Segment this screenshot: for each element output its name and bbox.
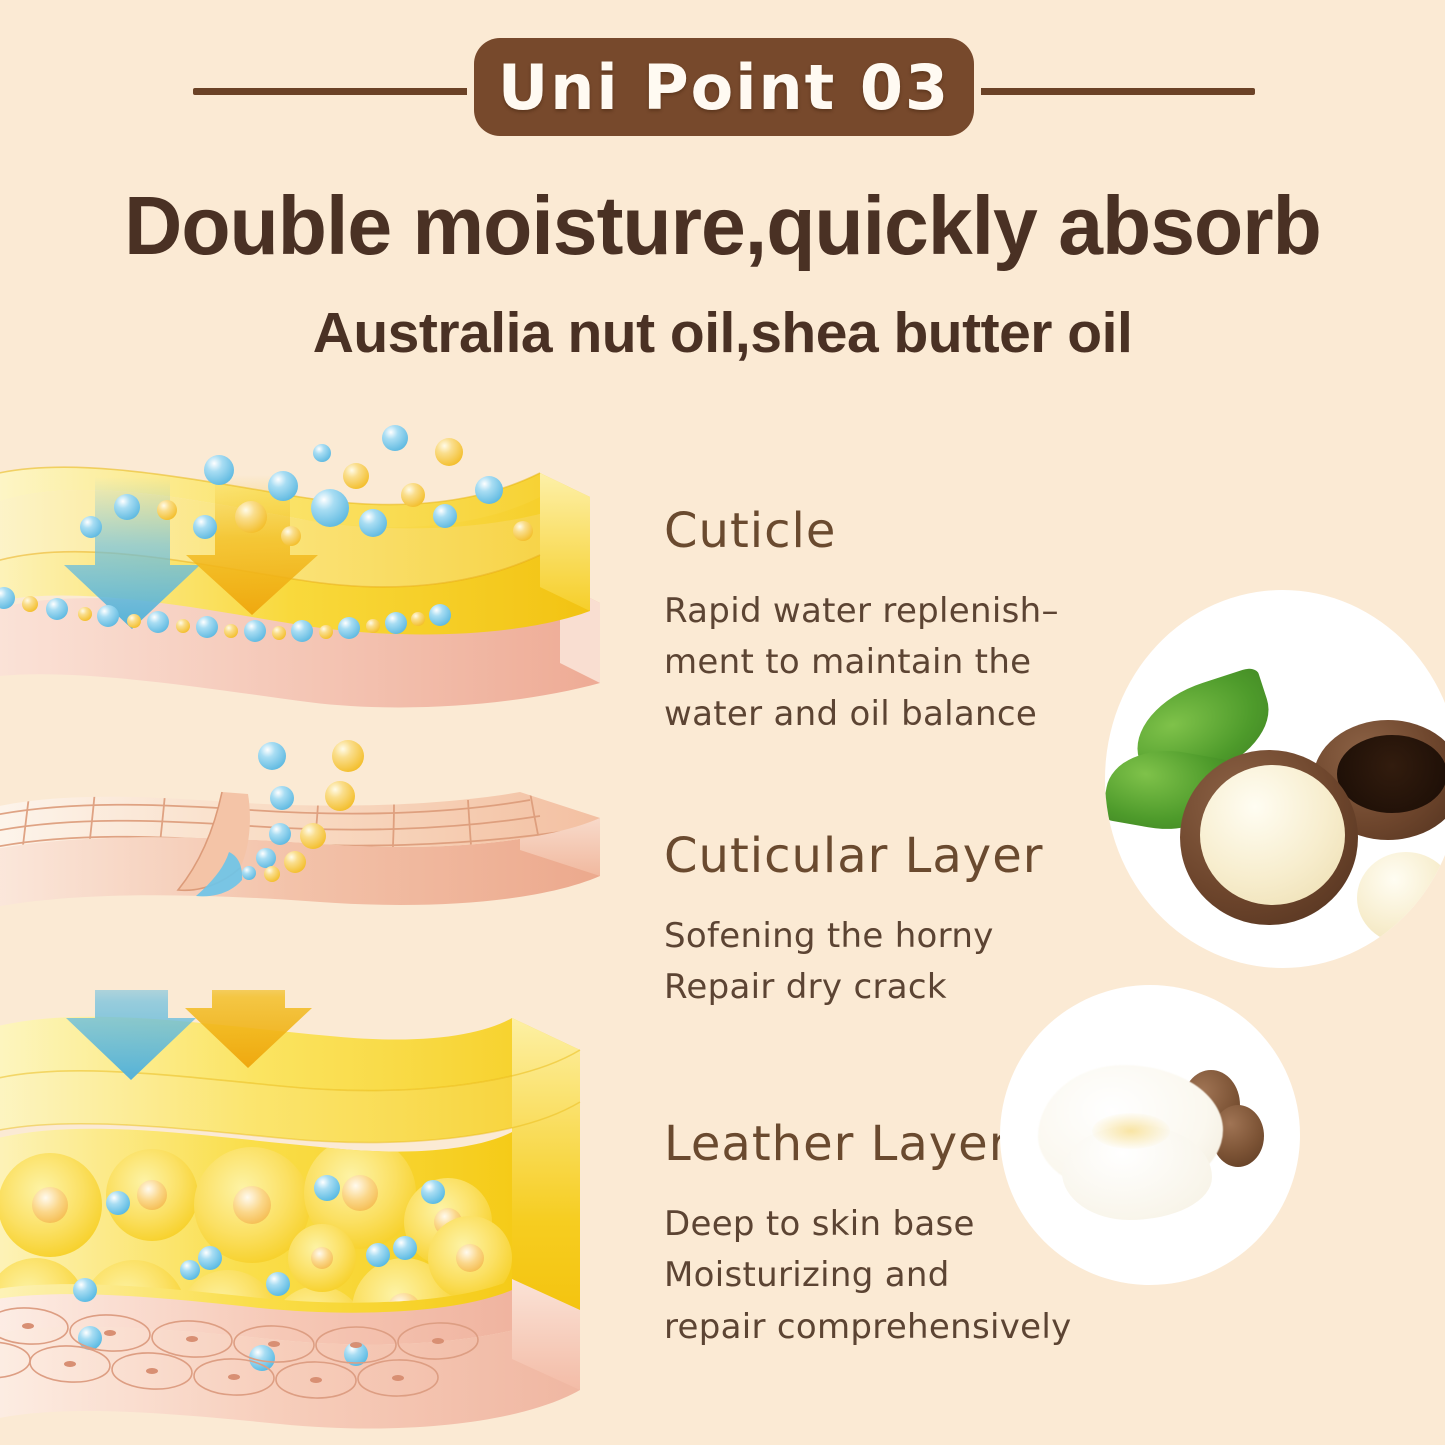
cuticular-layer-diagram — [0, 740, 620, 1005]
layer-heading: Cuticular Layer — [664, 830, 1134, 883]
header-rule-right — [935, 88, 1255, 95]
layer-block-cuticle: Cuticle Rapid water replenish– ment to m… — [664, 505, 1134, 741]
macadamia-nut-photo-content — [1105, 590, 1445, 968]
header: Uni Point 03 — [0, 0, 1445, 150]
header-rule-left — [193, 88, 513, 95]
layer-body: Rapid water replenish– ment to maintain … — [664, 586, 1134, 741]
page-title: Double moisture,quickly absorb — [22, 178, 1424, 274]
nut-kernel — [1200, 765, 1345, 905]
nut-kernel-piece — [1357, 852, 1445, 944]
nut-shell-hollow — [1337, 735, 1445, 813]
macadamia-nut-photo — [1105, 590, 1445, 968]
shea-butter-highlight — [1092, 1113, 1170, 1149]
badge-label: Uni Point 03 — [498, 51, 950, 124]
leather-layer-diagram — [0, 990, 640, 1440]
layer-heading: Cuticle — [664, 505, 1134, 558]
shea-butter-photo — [1000, 985, 1300, 1285]
cuticle-diagram — [0, 415, 620, 715]
uni-point-badge: Uni Point 03 — [474, 38, 974, 136]
shea-butter-photo-content — [1000, 985, 1300, 1285]
page-subtitle: Australia nut oil,shea butter oil — [0, 300, 1445, 366]
